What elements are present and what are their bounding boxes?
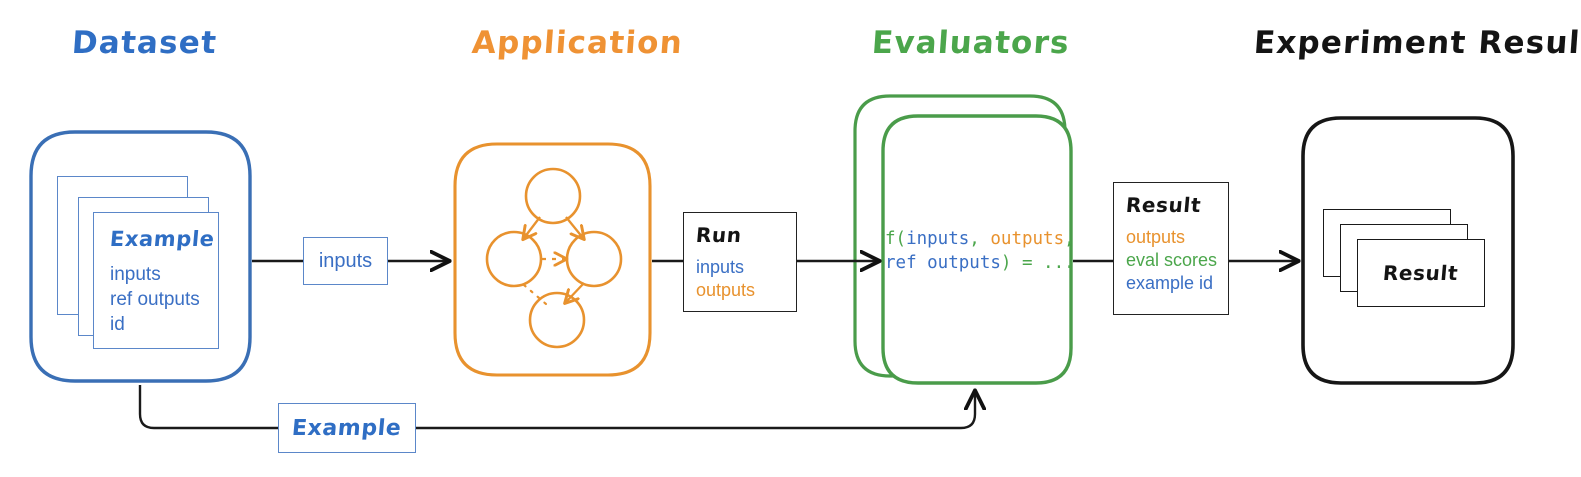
run-box-row-outputs: outputs <box>696 279 796 302</box>
experiment-results-title: Experiment Results <box>1253 25 1581 61</box>
run-box[interactable]: Run inputs outputs <box>683 212 797 312</box>
inputs-connector-box[interactable]: inputs <box>303 237 388 285</box>
evaluators-title: Evaluators <box>871 25 1071 61</box>
application-title: Application <box>471 25 684 61</box>
result-box-title: Result <box>1125 193 1229 217</box>
application-node-graph <box>487 169 621 347</box>
result-card-label: Result <box>1382 261 1459 285</box>
example-feedback-box[interactable]: Example <box>278 403 416 453</box>
run-box-title: Run <box>695 223 797 247</box>
code-tail: ) = ... <box>1001 253 1075 273</box>
code-arg-ref-outputs: ref outputs <box>885 253 1001 273</box>
example-field-inputs: inputs <box>110 264 161 285</box>
result-card[interactable]: Result <box>1357 239 1485 307</box>
code-sep-2: , <box>1064 229 1075 249</box>
diagram-canvas: Dataset Application Evaluators Experimen… <box>0 0 1581 477</box>
result-box-row-eval-scores: eval scores <box>1126 249 1228 272</box>
example-card-title: Example <box>109 227 216 251</box>
code-arg-inputs: inputs <box>906 229 969 249</box>
run-box-row-inputs: inputs <box>696 256 796 279</box>
code-sep-1: , <box>969 229 990 249</box>
example-card[interactable]: Example inputs ref outputs id <box>93 212 219 349</box>
example-feedback-label: Example <box>291 416 403 441</box>
example-feedback-path <box>140 385 975 428</box>
code-arg-outputs: outputs <box>990 229 1064 249</box>
code-fn-open: f( <box>885 229 906 249</box>
application-container-shape <box>455 144 650 375</box>
result-box-row-outputs: outputs <box>1126 226 1228 249</box>
example-field-id: id <box>110 314 125 335</box>
dataset-title: Dataset <box>71 25 219 61</box>
evaluator-function-code: f(inputs, outputs,ref outputs) = ... <box>885 227 1075 275</box>
inputs-connector-label: inputs <box>319 250 372 273</box>
result-box-row-example-id: example id <box>1126 272 1228 295</box>
example-field-ref-outputs: ref outputs <box>110 289 200 310</box>
result-box[interactable]: Result outputs eval scores example id <box>1113 182 1229 315</box>
